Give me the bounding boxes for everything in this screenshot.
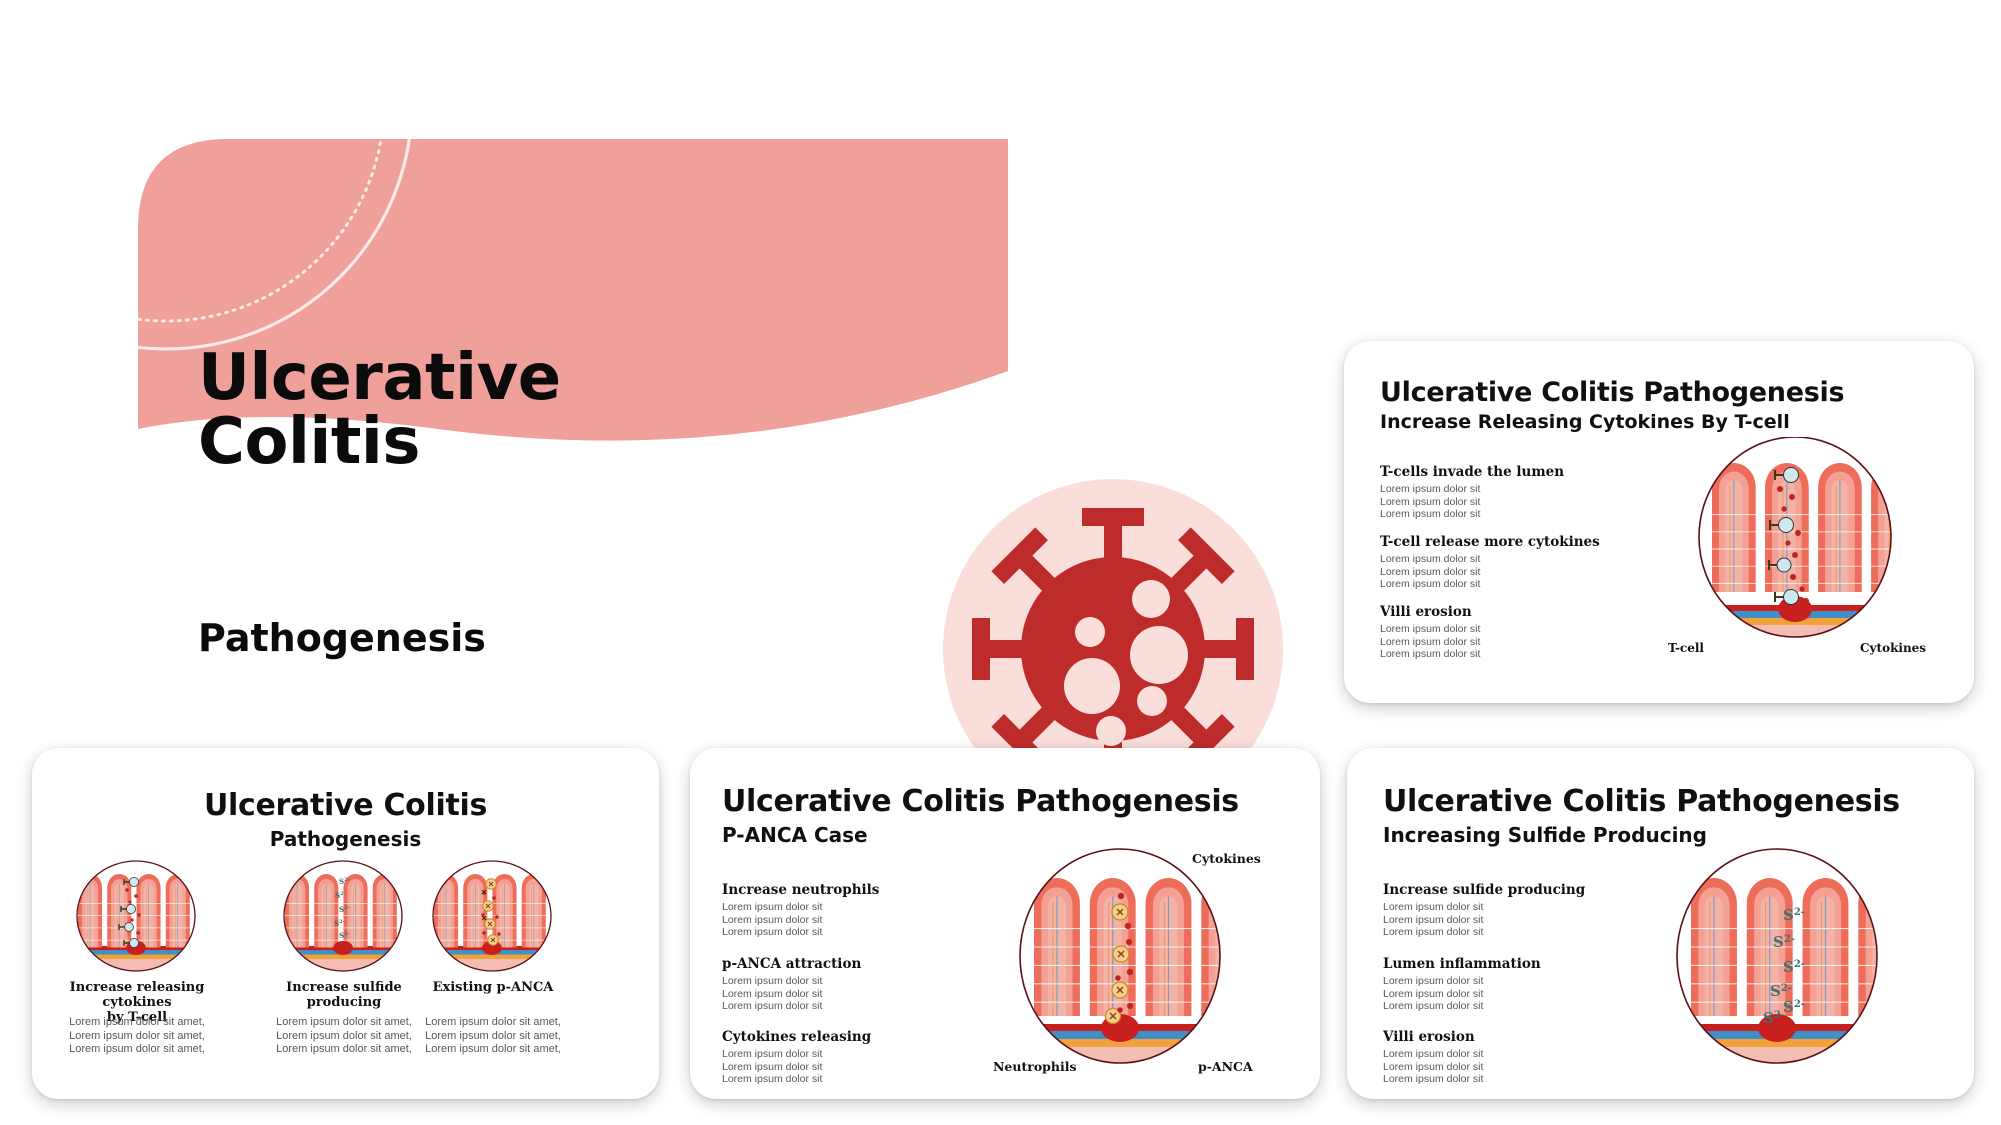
- villi-diagram-panca: [980, 844, 1260, 1074]
- section-heading: p-ANCA attraction: [722, 956, 861, 972]
- section-heading: T-cells invade the lumen: [1380, 464, 1564, 480]
- section-heading: Lumen inflammation: [1383, 956, 1541, 972]
- villi-diagram-sulfide: S2- S2- S2- S2- S2- S2-: [1637, 844, 1917, 1074]
- section-line: Lorem ipsum dolor sit: [1380, 578, 1600, 591]
- section-t-cell-release: T-cell release more cytokines Lorem ipsu…: [1380, 534, 1600, 591]
- section-line: Lorem ipsum dolor sit: [722, 1073, 871, 1086]
- section-heading: Villi erosion: [1380, 604, 1480, 620]
- section-line: Lorem ipsum dolor sit: [722, 1048, 871, 1061]
- card-sulfide[interactable]: Ulcerative Colitis Pathogenesis Increasi…: [1347, 748, 1974, 1099]
- villi-diagram-cytokines-small: [56, 860, 216, 972]
- diagram-label-panca: p-ANCA: [1198, 1059, 1253, 1074]
- panel-body: Lorem ipsum dolor sit amet, Lorem ipsum …: [400, 1016, 586, 1057]
- card-title: Ulcerative Colitis Pathogenesis: [722, 784, 1239, 819]
- villi-diagram-cytokines: [1660, 437, 1930, 652]
- section-line: Lorem ipsum dolor sit: [1383, 1073, 1483, 1086]
- section-line: Lorem ipsum dolor sit: [1380, 623, 1480, 636]
- section-line: Lorem ipsum dolor sit: [722, 1000, 861, 1013]
- section-villi-erosion: Villi erosion Lorem ipsum dolor sit Lore…: [1380, 604, 1480, 661]
- section-heading: Increase neutrophils: [722, 882, 879, 898]
- section-line: Lorem ipsum dolor sit: [1380, 496, 1564, 509]
- section-heading: Increase sulfide producing: [1383, 882, 1585, 898]
- section-line: Lorem ipsum dolor sit: [1383, 914, 1585, 927]
- card-title: Ulcerative Colitis Pathogenesis: [1383, 784, 1900, 819]
- hero-banner: Ulcerative Colitis Pathogenesis: [138, 139, 1293, 531]
- section-line: Lorem ipsum dolor sit: [722, 988, 861, 1001]
- page-subtitle: Pathogenesis: [198, 616, 486, 660]
- villi-diagram-sulfide-small: S2- S2- S2- S2- S2-: [263, 860, 423, 972]
- section-villi-erosion: Villi erosion Lorem ipsum dolor sit Lore…: [1383, 1029, 1483, 1086]
- diagram-label-t-cell: T-cell: [1668, 641, 1704, 655]
- section-line: Lorem ipsum dolor sit: [1383, 926, 1585, 939]
- card-cytokines[interactable]: Ulcerative Colitis Pathogenesis Increase…: [1344, 341, 1974, 703]
- section-lumen-inflammation: Lumen inflammation Lorem ipsum dolor sit…: [1383, 956, 1541, 1013]
- section-line: Lorem ipsum dolor sit: [1380, 648, 1480, 661]
- page-title: Ulcerative Colitis: [198, 346, 561, 474]
- section-line: Lorem ipsum dolor sit: [1380, 553, 1600, 566]
- section-line: Lorem ipsum dolor sit: [722, 901, 879, 914]
- section-line: Lorem ipsum dolor sit: [1380, 508, 1564, 521]
- section-line: Lorem ipsum dolor sit: [1383, 988, 1541, 1001]
- section-line: Lorem ipsum dolor sit: [722, 975, 861, 988]
- section-line: Lorem ipsum dolor sit: [1380, 566, 1600, 579]
- section-heading: T-cell release more cytokines: [1380, 534, 1600, 550]
- card-title: Ulcerative Colitis: [32, 788, 659, 823]
- card-title: Ulcerative Colitis Pathogenesis: [1380, 377, 1844, 408]
- section-panca-attraction: p-ANCA attraction Lorem ipsum dolor sit …: [722, 956, 861, 1013]
- section-increase-neutrophils: Increase neutrophils Lorem ipsum dolor s…: [722, 882, 879, 939]
- slide-canvas: Ulcerative Colitis Pathogenesis: [0, 0, 2001, 1125]
- section-t-cells-invade: T-cells invade the lumen Lorem ipsum dol…: [1380, 464, 1564, 521]
- diagram-label-cytokines: Cytokines: [1860, 641, 1926, 655]
- villi-diagram-panca-small: [412, 860, 572, 972]
- section-line: Lorem ipsum dolor sit: [722, 914, 879, 927]
- section-line: Lorem ipsum dolor sit: [1383, 1048, 1483, 1061]
- section-line: Lorem ipsum dolor sit: [1380, 483, 1564, 496]
- section-line: Lorem ipsum dolor sit: [1383, 1000, 1541, 1013]
- panel-caption: Existing p-ANCA: [400, 980, 586, 995]
- panel-body: Lorem ipsum dolor sit amet, Lorem ipsum …: [44, 1016, 230, 1057]
- card-panca[interactable]: Ulcerative Colitis Pathogenesis P-ANCA C…: [690, 748, 1320, 1099]
- card-subtitle: Increase Releasing Cytokines By T-cell: [1380, 411, 1790, 433]
- card-overview[interactable]: Ulcerative Colitis Pathogenesis: [32, 748, 659, 1099]
- section-line: Lorem ipsum dolor sit: [1380, 636, 1480, 649]
- section-line: Lorem ipsum dolor sit: [722, 1061, 871, 1074]
- card-subtitle: Pathogenesis: [32, 827, 659, 851]
- section-cytokines-releasing: Cytokines releasing Lorem ipsum dolor si…: [722, 1029, 871, 1086]
- diagram-label-cytokines: Cytokines: [1192, 851, 1261, 866]
- section-heading: Cytokines releasing: [722, 1029, 871, 1045]
- diagram-label-neutrophils: Neutrophils: [993, 1059, 1077, 1074]
- section-line: Lorem ipsum dolor sit: [722, 926, 879, 939]
- section-line: Lorem ipsum dolor sit: [1383, 901, 1585, 914]
- section-increase-sulfide: Increase sulfide producing Lorem ipsum d…: [1383, 882, 1585, 939]
- section-line: Lorem ipsum dolor sit: [1383, 1061, 1483, 1074]
- card-subtitle: P-ANCA Case: [722, 823, 868, 847]
- section-line: Lorem ipsum dolor sit: [1383, 975, 1541, 988]
- section-heading: Villi erosion: [1383, 1029, 1483, 1045]
